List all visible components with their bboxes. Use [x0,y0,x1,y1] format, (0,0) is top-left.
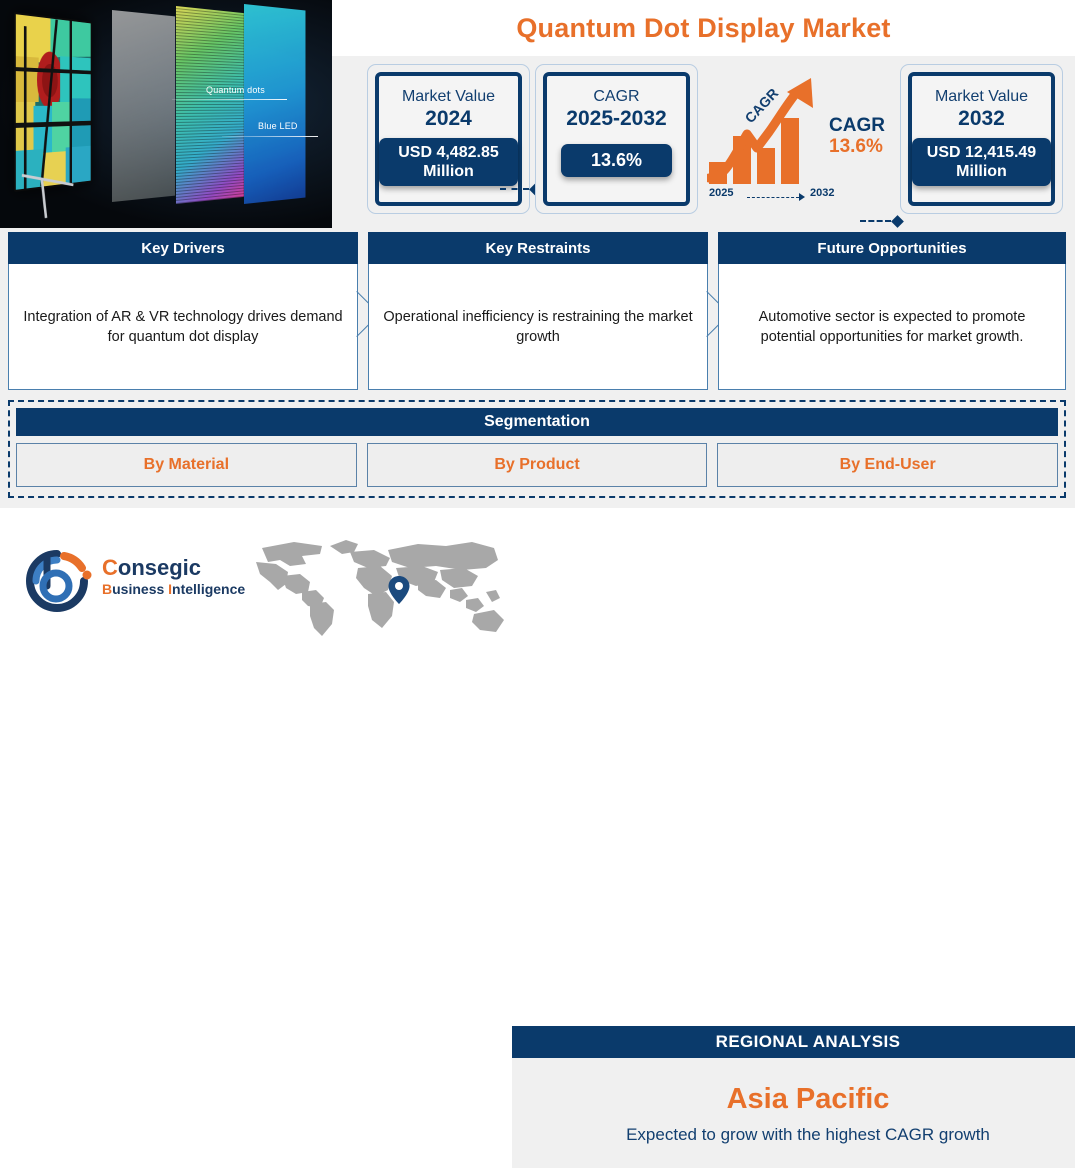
axis-end-label: 2032 [810,187,834,199]
future-opportunities-panel: Future Opportunities Automotive sector i… [718,232,1066,390]
dot-grid-texture [176,6,244,204]
key-drivers-text: Integration of AR & VR technology drives… [23,307,343,347]
axis-line [747,197,799,198]
key-drivers-header: Key Drivers [8,232,358,264]
quantum-dots-leader-line [172,99,287,100]
cagr-label: CAGR [593,87,639,106]
blue-led-layer [244,4,305,204]
cagr-card: CAGR 2025-2032 13.6% [535,64,698,214]
market-value-2032-label: Market Value [935,87,1028,106]
future-opportunities-header: Future Opportunities [718,232,1066,264]
future-opportunities-text: Automotive sector is expected to promote… [733,307,1051,347]
tv-illustration [14,12,92,192]
key-restraints-header: Key Restraints [368,232,708,264]
key-drivers-panel: Key Drivers Integration of AR & VR techn… [8,232,358,390]
key-restraints-text: Operational inefficiency is restraining … [383,307,693,347]
tv-screen-art [16,14,91,190]
consegic-logo-mark [16,548,98,614]
growth-chart-graphic: CAGR CAGR 13.6% 2025 2032 [707,74,897,206]
axis-arrow [747,193,805,201]
cagr-badge: 13.6% [561,144,672,177]
stats-row: Market Value 2024 USD 4,482.85 Million C… [332,56,1075,228]
regional-analysis-header: REGIONAL ANALYSIS [512,1026,1075,1058]
segmentation-section: Segmentation By Material By Product By E… [8,400,1066,498]
quantum-dots-label: Quantum dots [206,85,265,95]
logo-tagline: Business Intelligence [102,581,245,598]
key-drivers-body: Integration of AR & VR technology drives… [8,264,358,390]
world-map [250,532,510,648]
segment-by-end-user[interactable]: By End-User [717,443,1058,487]
regional-analysis-section: REGIONAL ANALYSIS Asia Pacific Expected … [512,1026,1075,1168]
infographic-page: Quantum dots Blue LED Quantum Dot Displa… [0,0,1075,660]
connector-line [860,220,891,222]
quantum-dot-layer [176,6,244,204]
arrow-head-icon [799,193,805,201]
axis-start-label: 2025 [709,187,733,199]
blue-led-leader-line [222,136,318,137]
market-value-2032-year: 2032 [958,107,1005,131]
card-inner: Market Value 2032 USD 12,415.49 Million [908,72,1055,206]
regional-analysis-body: Asia Pacific Expected to grow with the h… [512,1058,1075,1168]
title-bar: Quantum Dot Display Market [332,0,1075,56]
logo-name-rest: onsegic [118,555,201,580]
segment-by-product[interactable]: By Product [367,443,708,487]
cagr-callout: CAGR 13.6% [829,116,885,158]
cagr-period: 2025-2032 [566,107,666,131]
market-value-2032-badge: USD 12,415.49 Million [912,138,1051,186]
segment-by-material[interactable]: By Material [16,443,357,487]
logo-company-name: Consegic [102,556,245,580]
tv-stand [18,176,84,220]
connector-line [500,188,529,190]
company-logo: Consegic Business Intelligence [16,548,248,616]
market-value-2032-card: Market Value 2032 USD 12,415.49 Million [900,64,1063,214]
connector-2024-to-cagr [500,184,540,194]
market-value-2024-year: 2024 [425,107,472,131]
cagr-callout-title: CAGR [829,116,885,136]
diffuser-layer [112,10,175,202]
logo-intelligence-text: ntelligence [172,581,245,597]
key-restraints-body: Operational inefficiency is restraining … [368,264,708,390]
logo-b-letter: B [102,581,112,597]
page-title: Quantum Dot Display Market [516,13,890,44]
logo-wordmark: Consegic Business Intelligence [102,556,245,598]
segmentation-header: Segmentation [16,408,1058,436]
blue-led-label: Blue LED [258,121,298,131]
segmentation-row: By Material By Product By End-User [16,443,1058,487]
map-landmasses [256,540,504,636]
diamond-icon [891,215,904,228]
market-value-2024-label: Market Value [402,87,495,106]
footer: Consegic Business Intelligence [0,508,1075,660]
hero-image: Quantum dots Blue LED [0,0,332,228]
logo-c-letter: C [102,555,118,580]
region-name: Asia Pacific [727,1081,890,1117]
market-value-2024-badge: USD 4,482.85 Million [379,138,518,186]
card-inner: CAGR 2025-2032 13.6% [543,72,690,206]
key-restraints-panel: Key Restraints Operational inefficiency … [368,232,708,390]
logo-business-text: usiness [112,581,168,597]
future-opportunities-body: Automotive sector is expected to promote… [718,264,1066,390]
region-subtitle: Expected to grow with the highest CAGR g… [626,1123,990,1147]
cagr-callout-value: 13.6% [829,136,885,158]
connector-cagr-to-2032 [860,216,902,226]
